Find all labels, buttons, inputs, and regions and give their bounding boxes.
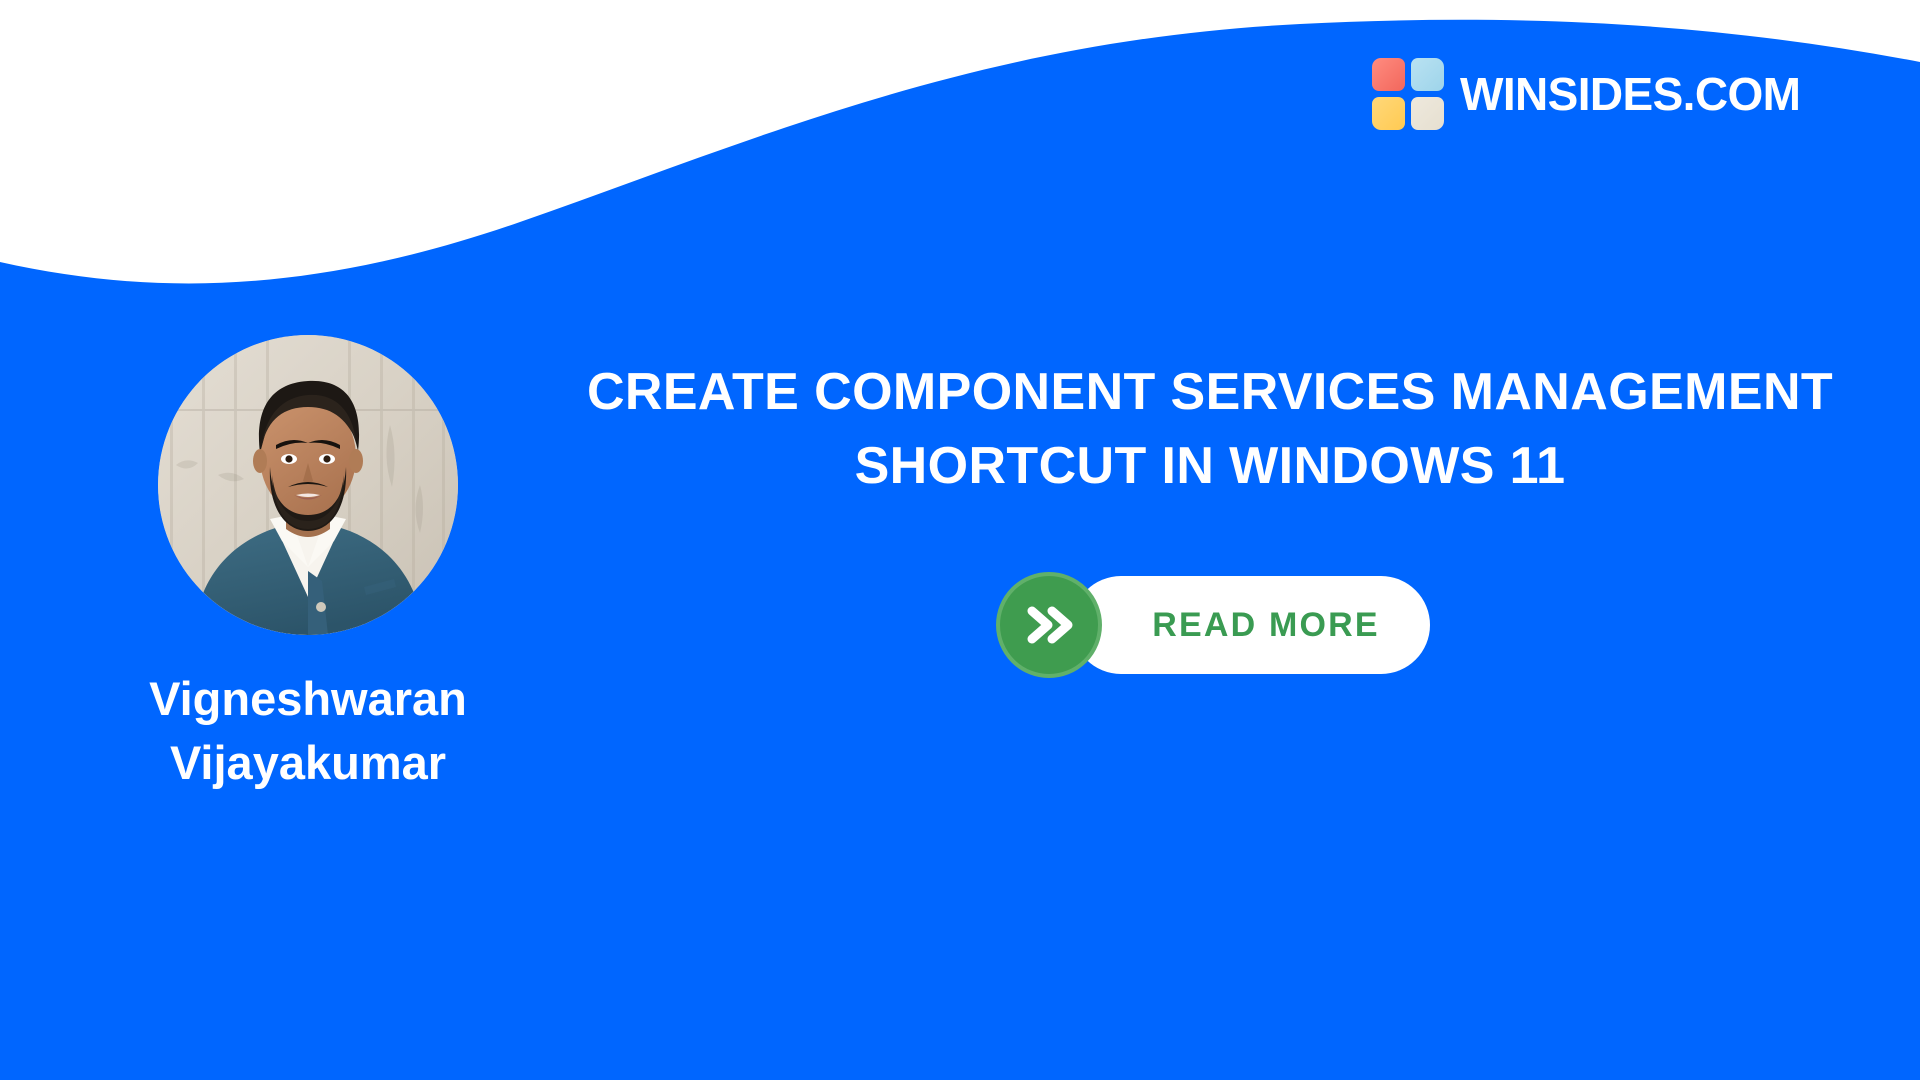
social-card: WINSIDES.COM xyxy=(0,0,1920,1080)
windows-tiles-icon xyxy=(1372,58,1444,130)
author-block: Vigneshwaran Vijayakumar xyxy=(108,335,508,795)
tile-bottom-right-icon xyxy=(1411,97,1444,130)
site-logo-text: WINSIDES.COM xyxy=(1460,71,1800,117)
avatar xyxy=(158,335,458,635)
double-chevron-right-icon xyxy=(996,572,1102,678)
tile-bottom-left-icon xyxy=(1372,97,1405,130)
tile-top-right-icon xyxy=(1411,58,1444,91)
site-logo[interactable]: WINSIDES.COM xyxy=(1372,55,1800,133)
read-more-button[interactable]: READ MORE xyxy=(996,572,1430,678)
tile-top-left-icon xyxy=(1372,58,1405,91)
read-more-label: READ MORE xyxy=(1102,572,1430,678)
author-name: Vigneshwaran Vijayakumar xyxy=(118,667,498,795)
page-title: Create Component Services Management Sho… xyxy=(540,356,1880,504)
